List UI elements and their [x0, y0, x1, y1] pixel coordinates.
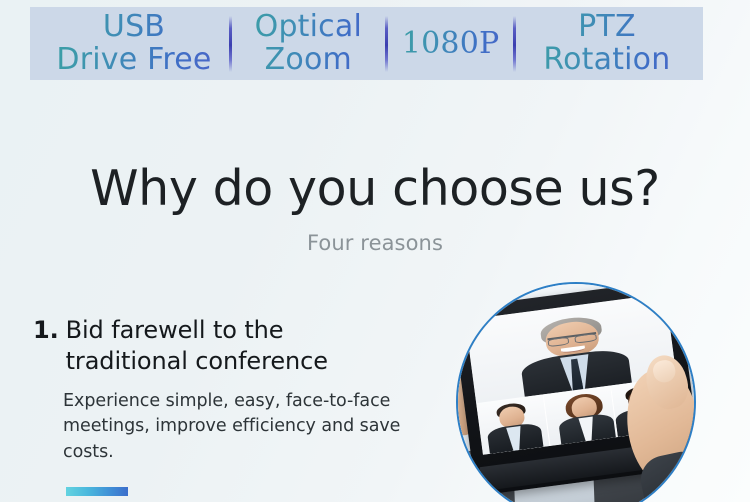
participant-2-figure [560, 391, 611, 444]
feature-optical-line1: Optical [232, 11, 384, 43]
feature-usb-line2: Drive Free [40, 44, 228, 76]
accent-bar [66, 487, 128, 496]
feature-item-ptz-rotation: PTZ Rotation [517, 11, 697, 76]
feature-ptz-line1: PTZ [517, 11, 697, 43]
feature-item-optical-zoom: Optical Zoom [232, 11, 384, 76]
reason-number: 1. [33, 315, 59, 346]
feature-ptz-line2: Rotation [517, 44, 697, 76]
feature-optical-line2: Zoom [232, 44, 384, 76]
feature-resolution-line1: 1080P [389, 11, 513, 77]
reason-title: Bid farewell to the traditional conferen… [66, 315, 396, 377]
page-title: Why do you choose us? [0, 160, 750, 217]
reason-block-1: 1. Bid farewell to the traditional confe… [33, 315, 453, 466]
banner-divider-3 [513, 16, 516, 72]
page-subtitle: Four reasons [0, 231, 750, 255]
reason-description: Experience simple, easy, face-to-face me… [63, 389, 415, 466]
reason-heading: 1. Bid farewell to the traditional confe… [33, 315, 453, 377]
video-tile-participant-2 [542, 387, 616, 447]
main-speaker-figure [527, 313, 620, 396]
participant-1-figure [488, 401, 539, 454]
feature-item-resolution: 1080P [389, 11, 513, 77]
photo-content [458, 284, 694, 502]
feature-item-usb: USB Drive Free [40, 11, 228, 76]
banner-divider-2 [385, 16, 388, 72]
video-conference-photo [456, 282, 696, 502]
video-tile-participant-1 [476, 395, 549, 455]
feature-usb-line1: USB [40, 11, 228, 43]
feature-banner: USB Drive Free Optical Zoom 1080P PTZ Ro… [30, 7, 703, 80]
banner-divider-1 [229, 16, 232, 72]
